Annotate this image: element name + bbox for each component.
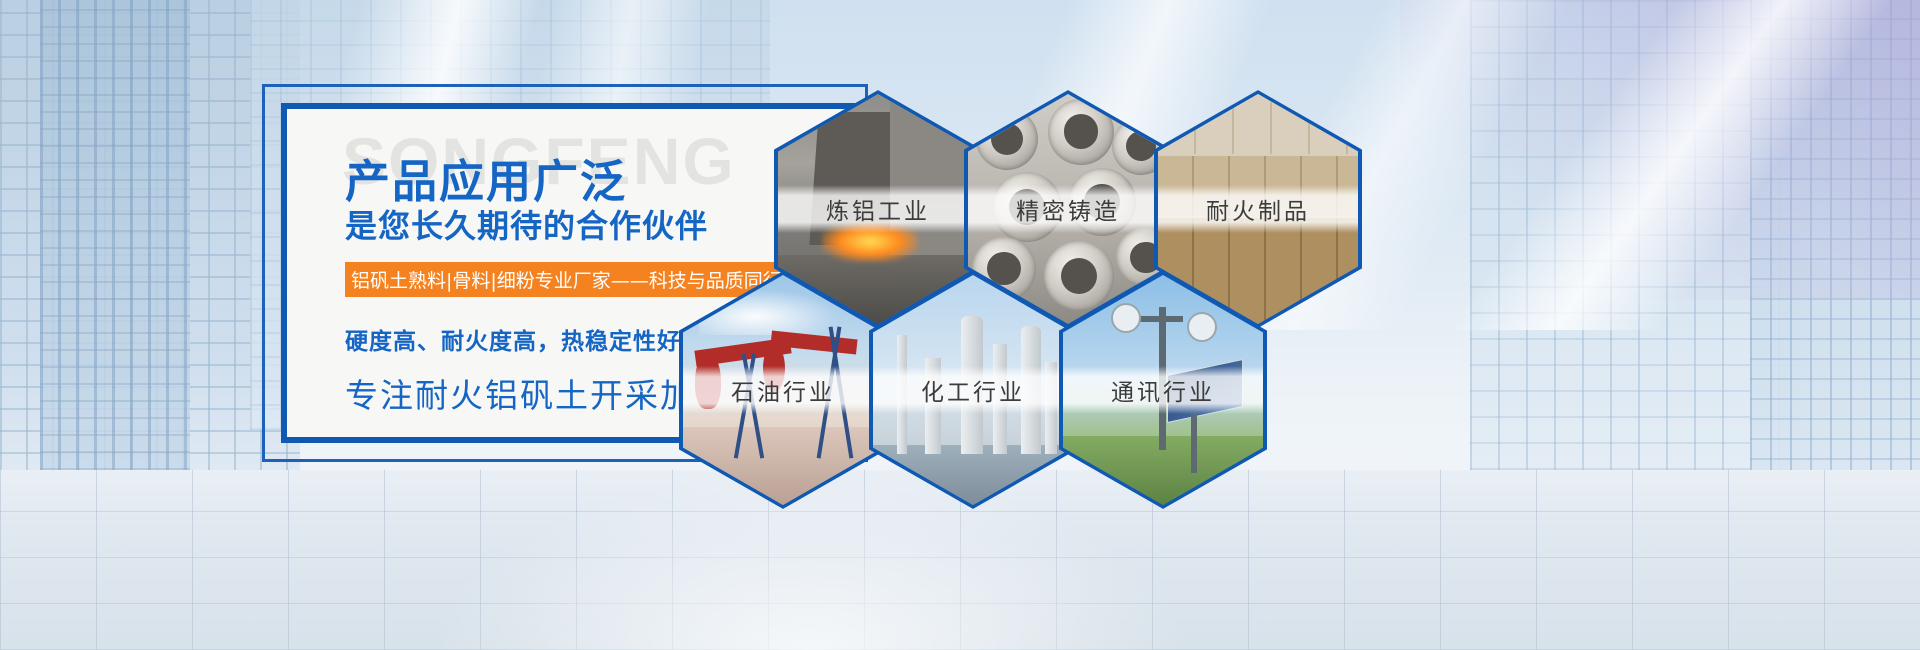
subheadline: 是您长久期待的合作伙伴 — [345, 201, 708, 247]
hex-label-refractory-products: 耐火制品 — [1158, 185, 1358, 233]
hex-label-precision-casting: 精密铸造 — [968, 185, 1168, 233]
hex-label-aluminium-smelting: 炼铝工业 — [778, 185, 978, 233]
hexagon-grid: 炼铝工业 精密铸造 — [670, 90, 1310, 510]
hex-label-petroleum-industry: 石油行业 — [683, 366, 883, 414]
hex-label-telecom-industry: 通讯行业 — [1063, 366, 1263, 414]
hex-label-chemical-industry: 化工行业 — [873, 366, 1073, 414]
banner-stage: SONGFENG 产品应用广泛 是您长久期待的合作伙伴 铝矾土熟料|骨料|细粉专… — [0, 0, 1920, 650]
